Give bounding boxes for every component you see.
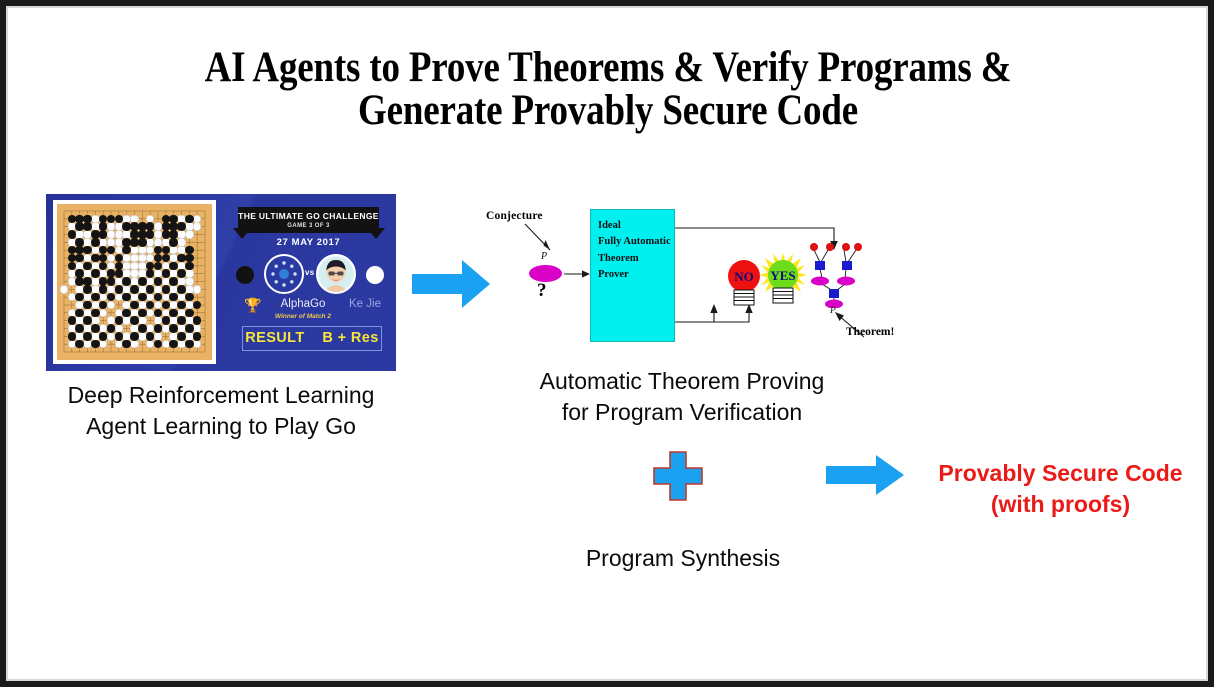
players-row: vs — [234, 254, 386, 296]
go-stone-black — [138, 238, 146, 246]
go-stone-black — [154, 277, 162, 285]
conjecture-formula-label: P — [541, 251, 547, 262]
player-subtitle-alphago: Winner of Match 2 — [260, 313, 346, 320]
match-date: 27 MAY 2017 — [238, 237, 379, 248]
go-stone-black — [107, 277, 115, 285]
go-stone-black — [185, 215, 193, 223]
go-stone-black — [177, 269, 185, 277]
go-stone-black — [75, 309, 83, 317]
go-stone-black — [75, 324, 83, 332]
go-stone-black — [185, 340, 193, 348]
white-stone-icon — [366, 266, 384, 284]
go-stone-black — [83, 246, 91, 254]
go-stone-black — [83, 332, 91, 340]
go-stone-black — [169, 277, 177, 285]
go-stone-black — [83, 262, 91, 270]
svg-text:NO: NO — [734, 269, 754, 284]
go-stone-black — [185, 293, 193, 301]
go-stone-black — [122, 277, 130, 285]
go-stone-black — [169, 324, 177, 332]
go-stone-black — [83, 301, 91, 309]
go-stone-white — [185, 230, 193, 238]
go-stone-black — [185, 324, 193, 332]
go-stone-white — [130, 340, 138, 348]
proof-tree-icon — [800, 236, 870, 313]
alphago-match-graphic: THE ULTIMATE GO CHALLENGE GAME 3 OF 3 27… — [46, 194, 396, 371]
theorem-proving-diagram: Conjecture P ? Ideal Fully Automatic The… — [478, 204, 908, 354]
go-stone-black — [185, 254, 193, 262]
go-stone-black — [68, 262, 76, 270]
go-stone-black — [91, 324, 99, 332]
go-stone-white — [107, 332, 115, 340]
prover-line-1: Ideal — [598, 218, 671, 234]
go-stone-black — [99, 285, 107, 293]
go-stone-black — [185, 262, 193, 270]
go-stone-black — [154, 324, 162, 332]
caption-go: Deep Reinforcement Learning Agent Learni… — [36, 380, 406, 441]
caption-program-synthesis: Program Synthesis — [513, 543, 853, 574]
go-stone-black — [130, 301, 138, 309]
slide-frame: AI Agents to Prove Theorems & Verify Pro… — [0, 0, 1214, 687]
player-name-alphago: AlphaGo — [268, 298, 338, 310]
go-stone-black — [146, 332, 154, 340]
go-stone-black — [99, 332, 107, 340]
theorem-label: Theorem! — [846, 326, 894, 338]
go-stone-black — [83, 285, 91, 293]
arrow-to-secure-code-icon — [826, 455, 904, 500]
go-stone-black — [130, 285, 138, 293]
go-stone-white — [193, 285, 201, 293]
go-stone-black — [193, 332, 201, 340]
prover-line-4: Prover — [598, 267, 671, 283]
go-board-frame — [53, 200, 216, 364]
go-stone-black — [169, 238, 177, 246]
go-stone-black — [122, 309, 130, 317]
result-value: B + Res — [322, 330, 378, 346]
outcome-line-1: Provably Secure Code — [908, 458, 1208, 489]
go-stone-black — [91, 238, 99, 246]
plus-sign-icon — [653, 451, 703, 506]
prover-box-text: Ideal Fully Automatic Theorem Prover — [598, 218, 671, 283]
go-stone-black — [177, 316, 185, 324]
conjecture-label: Conjecture — [486, 210, 543, 222]
go-stone-black — [107, 324, 115, 332]
result-label: RESULT — [245, 330, 304, 346]
go-stone-black — [146, 230, 154, 238]
go-board — [57, 204, 212, 360]
go-stone-black — [68, 230, 76, 238]
page-title: AI Agents to Prove Theorems & Verify Pro… — [144, 46, 1073, 132]
go-stone-black — [115, 285, 123, 293]
go-stone-black — [177, 301, 185, 309]
go-stone-black — [91, 293, 99, 301]
go-stone-black — [115, 269, 123, 277]
go-stone-black — [138, 309, 146, 317]
outcome-line-2: (with proofs) — [908, 489, 1208, 520]
theorem-formula-label: P — [830, 306, 836, 316]
go-stone-black — [115, 316, 123, 324]
conjecture-question-mark: ? — [537, 280, 547, 302]
alphago-logo-icon — [264, 254, 304, 294]
outcome-text: Provably Secure Code (with proofs) — [908, 458, 1208, 521]
go-stone-black — [138, 277, 146, 285]
go-stone-black — [130, 316, 138, 324]
go-stone-black — [146, 285, 154, 293]
go-stone-black — [138, 324, 146, 332]
go-stone-black — [115, 215, 123, 223]
go-stone-black — [169, 262, 177, 270]
caption-go-line-1: Deep Reinforcement Learning — [36, 380, 406, 411]
go-stone-black — [177, 332, 185, 340]
caption-atp-line-2: for Program Verification — [498, 397, 866, 428]
go-stone-black — [68, 332, 76, 340]
banner-subtitle: GAME 3 OF 3 — [238, 223, 379, 229]
caption-atp: Automatic Theorem Proving for Program Ve… — [498, 366, 866, 427]
title-line-2: Generate Provably Secure Code — [144, 89, 1073, 132]
go-stone-black — [91, 340, 99, 348]
match-banner: THE ULTIMATE GO CHALLENGE GAME 3 OF 3 — [238, 207, 379, 233]
match-result-box: RESULT B + Res — [242, 326, 382, 351]
go-stone-black — [177, 285, 185, 293]
go-stone-black — [169, 309, 177, 317]
title-line-1: AI Agents to Prove Theorems & Verify Pro… — [205, 44, 1012, 91]
svg-text:YES: YES — [770, 268, 795, 283]
go-stone-black — [83, 316, 91, 324]
go-stone-white — [60, 285, 68, 293]
player-name-kejie: Ke Jie — [334, 298, 396, 310]
go-stone-black — [130, 332, 138, 340]
go-stone-black — [162, 269, 170, 277]
prover-line-2: Fully Automatic — [598, 234, 671, 250]
prover-line-3: Theorem — [598, 251, 671, 267]
banner-title: THE ULTIMATE GO CHALLENGE — [238, 211, 379, 221]
caption-atp-line-1: Automatic Theorem Proving — [498, 366, 866, 397]
bulb-no-icon: NO — [724, 259, 764, 316]
go-stone-black — [185, 309, 193, 317]
go-stone-black — [99, 230, 107, 238]
theorem-prover-box: Ideal Fully Automatic Theorem Prover — [590, 209, 675, 342]
go-stone-black — [68, 316, 76, 324]
go-stone-black — [177, 222, 185, 230]
go-stone-black — [162, 285, 170, 293]
go-stone-black — [162, 316, 170, 324]
go-stone-black — [75, 254, 83, 262]
vs-label: vs — [305, 268, 315, 277]
black-stone-icon — [236, 266, 254, 284]
go-stone-black — [91, 309, 99, 317]
trophy-icon: 🏆 — [244, 298, 261, 312]
kejie-avatar — [316, 254, 356, 294]
caption-go-line-2: Agent Learning to Play Go — [36, 411, 406, 442]
slide-canvas: AI Agents to Prove Theorems & Verify Pro… — [6, 6, 1208, 681]
go-stone-black — [115, 332, 123, 340]
go-stone-black — [83, 222, 91, 230]
go-stone-black — [138, 293, 146, 301]
go-stone-black — [91, 269, 99, 277]
